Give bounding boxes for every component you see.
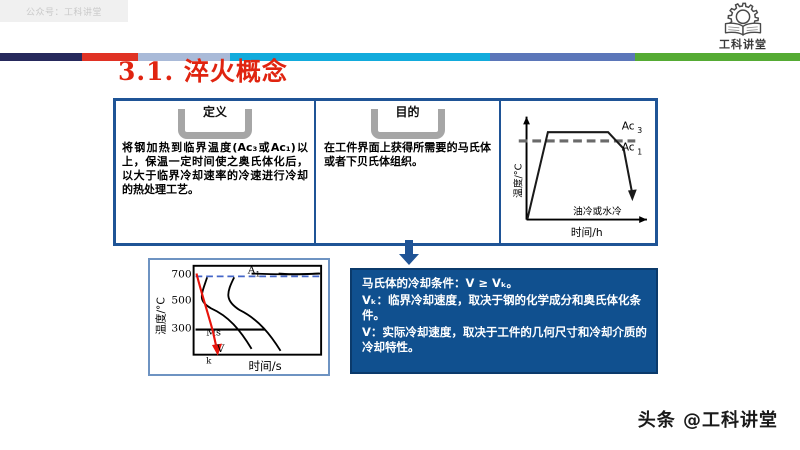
- brand-logo: 工科讲堂: [700, 2, 786, 52]
- purpose-text: 在工件界面上获得所需要的马氏体或者下贝氏体组织。: [324, 141, 491, 169]
- purpose-tab-bracket: 目的: [371, 109, 445, 139]
- heat-ylabel: 温度/°C: [512, 163, 525, 198]
- cooling-condition-info-box: 马氏体的冷却条件：V ≥ Vₖ。 Vₖ：临界冷却速度，取决于钢的化学成分和奥氏体…: [350, 268, 658, 374]
- purpose-tab-label: 目的: [384, 106, 432, 119]
- heat-xlabel: 时间/h: [571, 226, 603, 239]
- column-purpose: 目的 在工件界面上获得所需要的马氏体或者下贝氏体组织。: [316, 101, 501, 243]
- definition-purpose-panel: 定义 将钢加热到临界温度(Ac₃或Ac₁)以上，保温一定时间使之奥氏体化后，以大…: [113, 98, 658, 246]
- ytick-700: 700: [171, 267, 192, 280]
- slide-root: 公众号：工科讲堂 工科讲堂: [0, 0, 800, 450]
- ttt-diagram-box: A 1 Ms V k 700 500 300 温度/°C 时间/s: [148, 258, 330, 376]
- definition-tab-label: 定义: [191, 106, 239, 119]
- info-line-3: V：实际冷却速度，取决于工件的几何尺寸和冷却介质的冷却特性。: [362, 325, 648, 355]
- a1-label: A: [247, 264, 256, 277]
- colorbar-seg-navy: [0, 53, 82, 61]
- watermark-top-left-text: 公众号：工科讲堂: [26, 5, 102, 18]
- svg-text:3: 3: [637, 126, 642, 135]
- watermark-top-left: 公众号：工科讲堂: [0, 0, 128, 22]
- colorbar-seg-green: [635, 53, 800, 61]
- watermark-bottom-right: 头条 @工科讲堂: [638, 406, 778, 432]
- ac1-label: Ac: [622, 141, 635, 154]
- heating-curve-chart: Ac 3 Ac 1 温度/°C 时间/h 油冷或水冷: [505, 105, 651, 239]
- vk-label: k: [206, 356, 212, 366]
- ttt-ylabel: 温度/°C: [155, 297, 168, 335]
- definition-text: 将钢加热到临界温度(Ac₃或Ac₁)以上，保温一定时间使之奥氏体化后，以大于临界…: [122, 141, 308, 197]
- definition-tab-bracket: 定义: [178, 109, 252, 139]
- cooling-medium-label: 油冷或水冷: [573, 205, 622, 218]
- logo-text: 工科讲堂: [719, 36, 767, 52]
- column-heating-chart: Ac 3 Ac 1 温度/°C 时间/h 油冷或水冷: [501, 101, 655, 243]
- colorbar-seg-slate: [490, 53, 635, 61]
- column-definition: 定义 将钢加热到临界温度(Ac₃或Ac₁)以上，保温一定时间使之奥氏体化后，以大…: [116, 101, 316, 243]
- ttt-xlabel: 时间/s: [249, 359, 282, 373]
- info-line-2: Vₖ：临界冷却速度，取决于钢的化学成分和奥氏体化条件。: [362, 293, 648, 323]
- page-title: 3.1. 淬火概念: [118, 59, 288, 84]
- ttt-diagram-chart: A 1 Ms V k 700 500 300 温度/°C 时间/s: [150, 260, 328, 374]
- gear-book-icon: [720, 2, 766, 37]
- ytick-500: 500: [171, 293, 192, 306]
- flow-arrow-down-icon: [398, 240, 420, 266]
- ac3-label: Ac: [622, 119, 635, 132]
- v-label: V: [216, 342, 225, 355]
- svg-text:1: 1: [637, 148, 642, 157]
- ytick-300: 300: [171, 321, 192, 334]
- info-line-1: 马氏体的冷却条件：V ≥ Vₖ。: [362, 276, 648, 291]
